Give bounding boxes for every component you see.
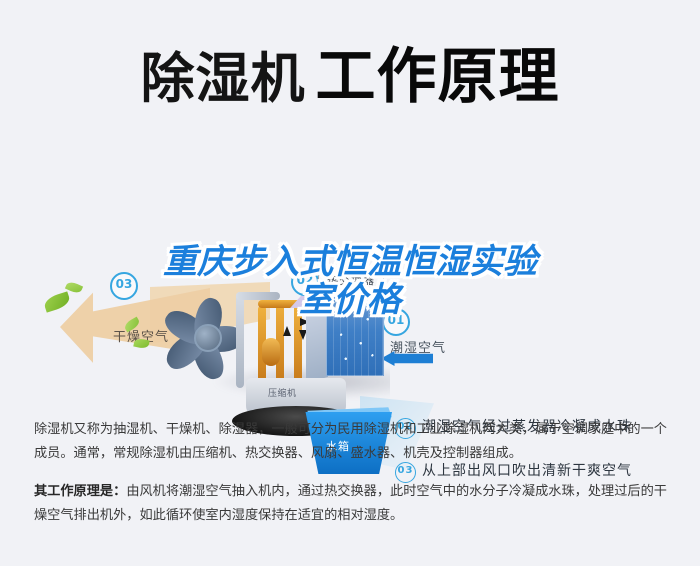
body-paragraph-2-text: 由风机将潮湿空气抽入机内，通过热交换器，此时空气中的水分子冷凝成水珠，处理过后的… (34, 484, 667, 523)
watermark-line-1: 重庆步入式恒温恒湿实验 (0, 243, 700, 281)
body-copy: 除湿机又称为抽湿机、干燥机、除湿器，一般可分为民用除湿机和工业除湿机两大类，属于… (34, 418, 670, 542)
body-paragraph-1: 除湿机又称为抽湿机、干燥机、除湿器，一般可分为民用除湿机和工业除湿机两大类，属于… (34, 418, 670, 466)
leaf-icon (133, 338, 150, 350)
watermark-overlay: 重庆步入式恒温恒湿实验 室价格 (0, 243, 700, 319)
compressor-label: 压缩机 (268, 386, 297, 399)
poster-root: 除湿机工作原理 潮湿空气 01 干燥空气 03 (0, 0, 700, 566)
receiver-tank-icon (262, 338, 280, 366)
flow-arrow-up-icon (283, 326, 291, 336)
watermark-line-2: 室价格 (0, 281, 700, 319)
body-paragraph-2-label: 其工作原理是： (34, 484, 126, 499)
page-title: 除湿机工作原理 (0, 28, 700, 115)
body-paragraph-2: 其工作原理是：由风机将潮湿空气抽入机内，通过热交换器，此时空气中的水分子冷凝成水… (34, 480, 670, 528)
humid-air-label: 潮湿空气 (390, 337, 446, 356)
page-title-part2: 工作原理 (316, 42, 560, 112)
page-title-part1: 除湿机 (141, 47, 306, 110)
